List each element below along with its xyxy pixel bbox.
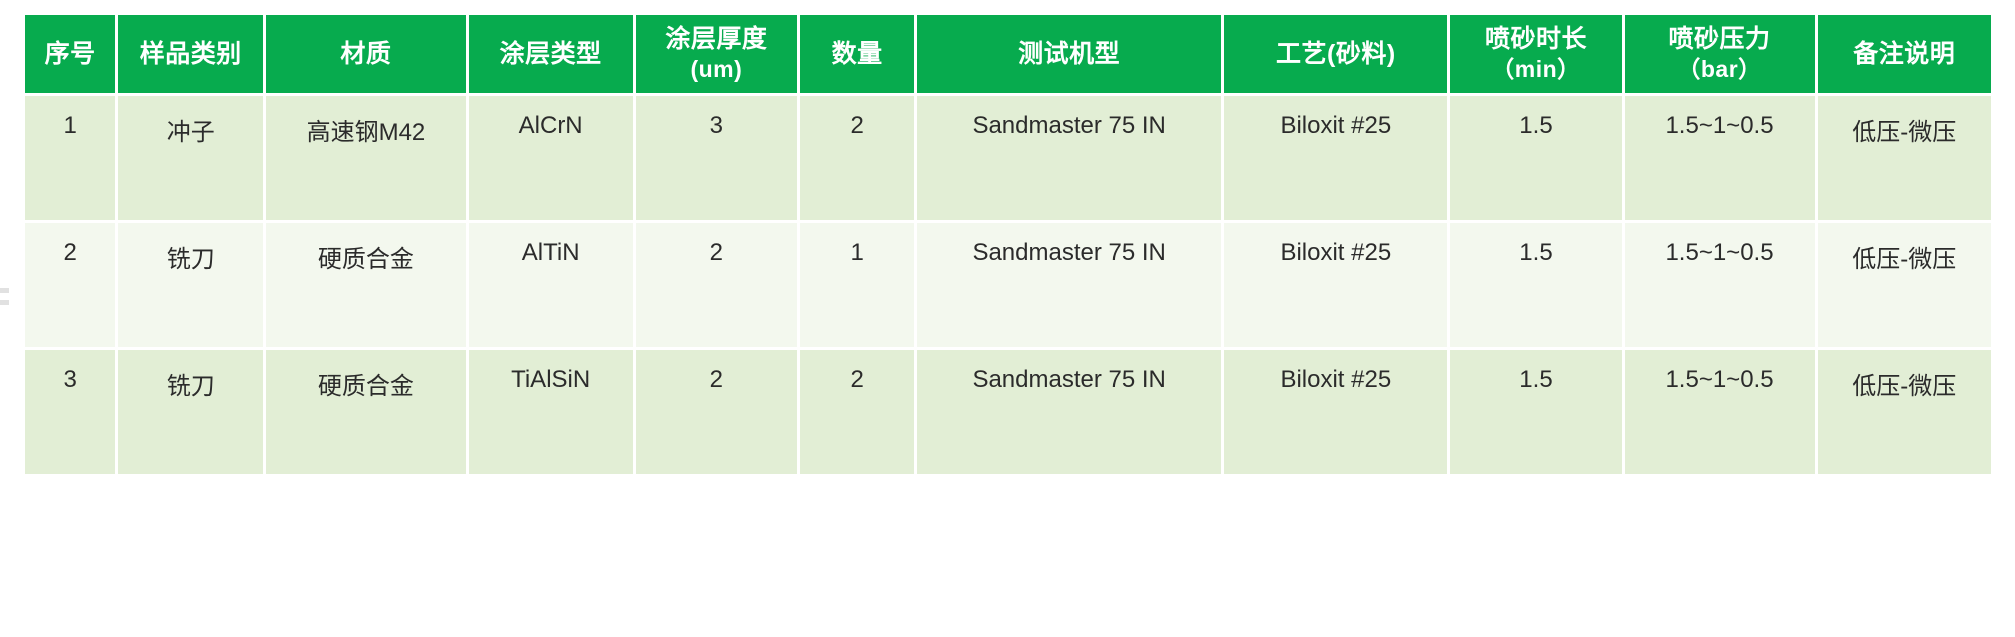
column-header-qty[interactable]: 数量 (800, 15, 914, 93)
column-header-machine[interactable]: 测试机型 (917, 15, 1221, 93)
column-header-coat-label: 涂层类型 (469, 38, 633, 70)
cell-cat-text: 冲子 (118, 112, 263, 147)
sample-parameters-table: 序号 样品类别 材质 涂层类型 涂层厚度 (um) (22, 12, 1994, 477)
cell-pressure[interactable]: 1.5~1~0.5 (1625, 96, 1815, 220)
cell-remark[interactable]: 低压-微压 (1818, 350, 1991, 474)
cell-machine-text: Sandmaster 75 IN (917, 366, 1221, 394)
cell-remark-text: 低压-微压 (1818, 239, 1991, 274)
cell-coat-text: TiAlSiN (469, 366, 633, 394)
cell-cat[interactable]: 冲子 (118, 96, 263, 220)
cell-qty-text: 1 (800, 239, 914, 267)
cell-thick[interactable]: 2 (636, 223, 798, 347)
column-header-remark[interactable]: 备注说明 (1818, 15, 1991, 93)
table-body: 1 冲子 高速钢M42 AlCrN 3 2 Sandmaster 75 IN B… (25, 96, 1991, 474)
column-header-process-label: 工艺(砂料) (1224, 38, 1447, 70)
column-header-seq-label: 序号 (25, 38, 115, 70)
cell-process[interactable]: Biloxit #25 (1224, 350, 1447, 474)
cell-mat-text: 高速钢M42 (266, 112, 466, 147)
cell-time[interactable]: 1.5 (1450, 223, 1621, 347)
cell-seq-text: 1 (25, 112, 115, 140)
cell-thick-text: 2 (636, 239, 798, 267)
cell-cat-text: 铣刀 (118, 239, 263, 274)
cell-thick-text: 3 (636, 112, 798, 140)
cell-coat[interactable]: AlCrN (469, 96, 633, 220)
column-header-time[interactable]: 喷砂时长 （min） (1450, 15, 1621, 93)
cell-mat[interactable]: 高速钢M42 (266, 96, 466, 220)
cell-qty[interactable]: 1 (800, 223, 914, 347)
cell-cat-text: 铣刀 (118, 366, 263, 401)
column-header-cat-label: 样品类别 (118, 38, 263, 70)
cell-pressure-text: 1.5~1~0.5 (1625, 112, 1815, 140)
column-header-remark-label: 备注说明 (1818, 38, 1991, 70)
column-header-seq[interactable]: 序号 (25, 15, 115, 93)
cell-process[interactable]: Biloxit #25 (1224, 223, 1447, 347)
cell-machine[interactable]: Sandmaster 75 IN (917, 96, 1221, 220)
cell-process-text: Biloxit #25 (1224, 112, 1447, 140)
cell-time[interactable]: 1.5 (1450, 350, 1621, 474)
column-header-cat[interactable]: 样品类别 (118, 15, 263, 93)
table-row[interactable]: 3 铣刀 硬质合金 TiAlSiN 2 2 Sandmaster 75 IN B… (25, 350, 1991, 474)
column-header-qty-label: 数量 (800, 38, 914, 70)
cell-coat-text: AlTiN (469, 239, 633, 267)
spreadsheet-canvas: 序号 样品类别 材质 涂层类型 涂层厚度 (um) (0, 0, 2015, 637)
cell-pressure[interactable]: 1.5~1~0.5 (1625, 350, 1815, 474)
cell-thick[interactable]: 3 (636, 96, 798, 220)
column-header-coat[interactable]: 涂层类型 (469, 15, 633, 93)
cell-pressure-text: 1.5~1~0.5 (1625, 366, 1815, 394)
cell-cat[interactable]: 铣刀 (118, 223, 263, 347)
cell-remark-text: 低压-微压 (1818, 366, 1991, 401)
cell-qty-text: 2 (800, 366, 914, 394)
cell-time[interactable]: 1.5 (1450, 96, 1621, 220)
header-row: 序号 样品类别 材质 涂层类型 涂层厚度 (um) (25, 15, 1991, 93)
cell-coat[interactable]: TiAlSiN (469, 350, 633, 474)
column-header-pressure-label: 喷砂压力 (1625, 23, 1815, 55)
cell-machine-text: Sandmaster 75 IN (917, 239, 1221, 267)
cell-qty[interactable]: 2 (800, 96, 914, 220)
cell-coat[interactable]: AlTiN (469, 223, 633, 347)
cell-machine[interactable]: Sandmaster 75 IN (917, 350, 1221, 474)
cell-seq-text: 3 (25, 366, 115, 394)
cell-qty[interactable]: 2 (800, 350, 914, 474)
cell-mat-text: 硬质合金 (266, 366, 466, 401)
column-header-time-label: 喷砂时长 (1450, 23, 1621, 55)
cell-seq[interactable]: 3 (25, 350, 115, 474)
cell-pressure-text: 1.5~1~0.5 (1625, 239, 1815, 267)
cell-remark-text: 低压-微压 (1818, 112, 1991, 147)
row-handle-artifact (0, 300, 9, 305)
cell-seq-text: 2 (25, 239, 115, 267)
table-header: 序号 样品类别 材质 涂层类型 涂层厚度 (um) (25, 15, 1991, 93)
column-header-time-unit: （min） (1450, 55, 1621, 84)
cell-process[interactable]: Biloxit #25 (1224, 96, 1447, 220)
cell-time-text: 1.5 (1450, 239, 1621, 267)
cell-machine-text: Sandmaster 75 IN (917, 112, 1221, 140)
column-header-thick-label: 涂层厚度 (636, 23, 798, 55)
cell-thick[interactable]: 2 (636, 350, 798, 474)
cell-pressure[interactable]: 1.5~1~0.5 (1625, 223, 1815, 347)
cell-mat-text: 硬质合金 (266, 239, 466, 274)
cell-cat[interactable]: 铣刀 (118, 350, 263, 474)
cell-qty-text: 2 (800, 112, 914, 140)
cell-remark[interactable]: 低压-微压 (1818, 223, 1991, 347)
cell-mat[interactable]: 硬质合金 (266, 350, 466, 474)
column-header-pressure-unit: （bar） (1625, 55, 1815, 84)
cell-seq[interactable]: 2 (25, 223, 115, 347)
column-header-thick-unit: (um) (636, 55, 798, 84)
column-header-mat[interactable]: 材质 (266, 15, 466, 93)
cell-time-text: 1.5 (1450, 112, 1621, 140)
cell-machine[interactable]: Sandmaster 75 IN (917, 223, 1221, 347)
table-row[interactable]: 2 铣刀 硬质合金 AlTiN 2 1 Sandmaster 75 IN Bil… (25, 223, 1991, 347)
column-header-pressure[interactable]: 喷砂压力 （bar） (1625, 15, 1815, 93)
column-header-machine-label: 测试机型 (917, 38, 1221, 70)
cell-mat[interactable]: 硬质合金 (266, 223, 466, 347)
column-header-process[interactable]: 工艺(砂料) (1224, 15, 1447, 93)
row-handle-artifact (0, 288, 9, 293)
cell-remark[interactable]: 低压-微压 (1818, 96, 1991, 220)
table-row[interactable]: 1 冲子 高速钢M42 AlCrN 3 2 Sandmaster 75 IN B… (25, 96, 1991, 220)
column-header-mat-label: 材质 (266, 38, 466, 70)
cell-time-text: 1.5 (1450, 366, 1621, 394)
cell-process-text: Biloxit #25 (1224, 366, 1447, 394)
cell-coat-text: AlCrN (469, 112, 633, 140)
column-header-thick[interactable]: 涂层厚度 (um) (636, 15, 798, 93)
cell-process-text: Biloxit #25 (1224, 239, 1447, 267)
cell-seq[interactable]: 1 (25, 96, 115, 220)
cell-thick-text: 2 (636, 366, 798, 394)
